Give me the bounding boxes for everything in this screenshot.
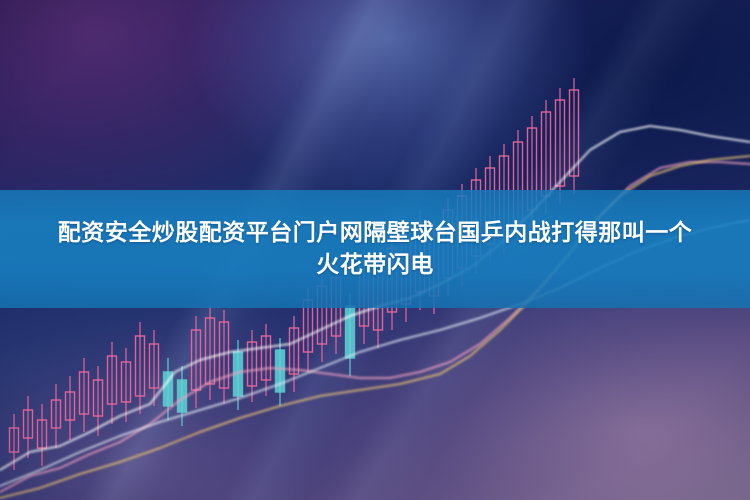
title-banner: 配资安全炒股配资平台门户网隔壁球台国乒内战打得那叫一个 火花带闪电	[0, 190, 750, 308]
title-line-1: 配资安全炒股配资平台门户网隔壁球台国乒内战打得那叫一个	[58, 217, 693, 249]
banner-image: 配资安全炒股配资平台门户网隔壁球台国乒内战打得那叫一个 火花带闪电	[0, 0, 750, 500]
title-line-2: 火花带闪电	[316, 249, 434, 281]
